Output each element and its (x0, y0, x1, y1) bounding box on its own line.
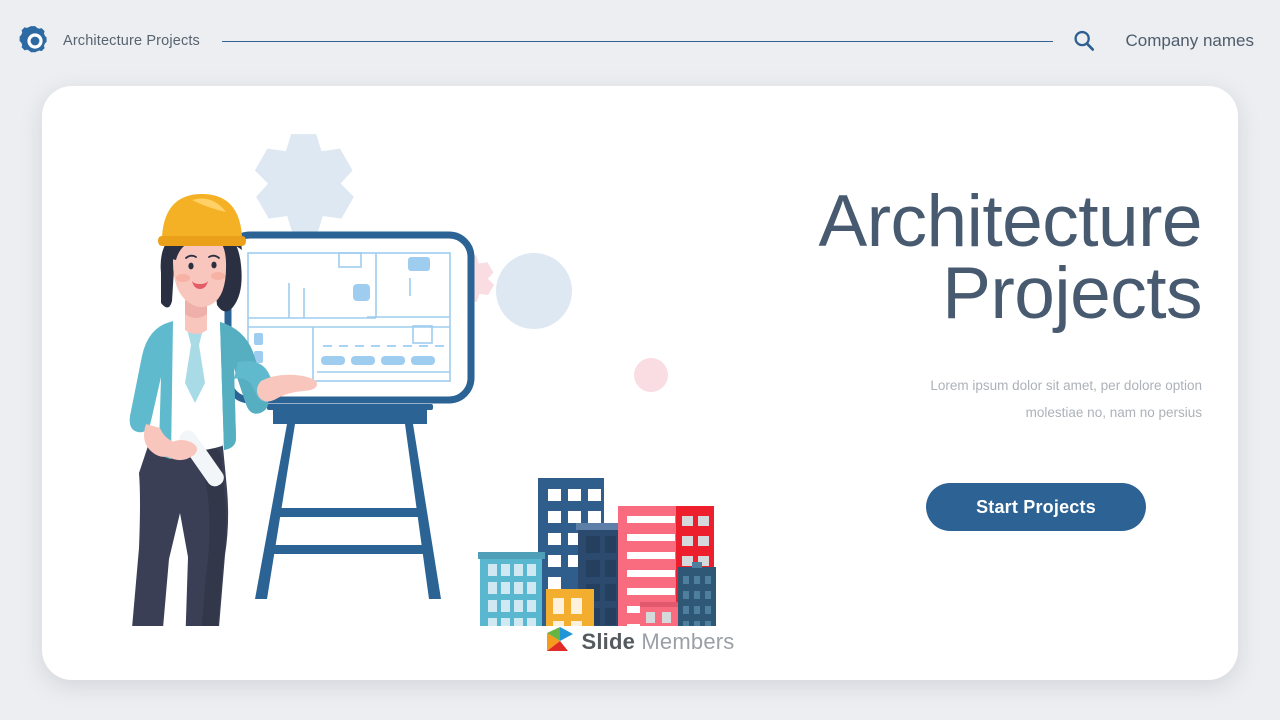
easel-stand (255, 404, 441, 599)
start-projects-button[interactable]: Start Projects (926, 483, 1146, 531)
company-names-label[interactable]: Company names (1125, 31, 1254, 51)
slidemembers-logo-light: Members (635, 629, 734, 654)
slidemembers-logo-bold: Slide (582, 629, 636, 654)
hero-text-block: Architecture Projects (642, 186, 1202, 331)
slide-card: Architecture Projects Lorem ipsum dolor … (42, 86, 1238, 680)
page-title-line-2: Projects (642, 258, 1202, 330)
hero-subtitle-line-1: Lorem ipsum dolor sit amet, per dolore o… (930, 378, 1202, 393)
brand-group[interactable]: Architecture Projects (18, 24, 200, 58)
hero-subtitle-line-2: molestiae no, nam no persius (1026, 405, 1202, 420)
cityscape (478, 478, 716, 626)
search-icon[interactable] (1067, 24, 1101, 58)
slidemembers-logo-text: Slide Members (582, 629, 735, 655)
hero-subtitle: Lorem ipsum dolor sit amet, per dolore o… (642, 372, 1202, 426)
hero-illustration (42, 86, 782, 626)
slidemembers-logo: Slide Members (42, 626, 1238, 658)
gear-icon (18, 24, 52, 58)
page-title: Architecture Projects (642, 186, 1202, 331)
top-header-bar: Architecture Projects Company names (0, 0, 1280, 82)
slidemembers-cube-logo-icon (546, 626, 574, 658)
page-title-line-1: Architecture (642, 186, 1202, 258)
header-divider-rule (222, 41, 1054, 42)
brand-title: Architecture Projects (63, 33, 200, 49)
